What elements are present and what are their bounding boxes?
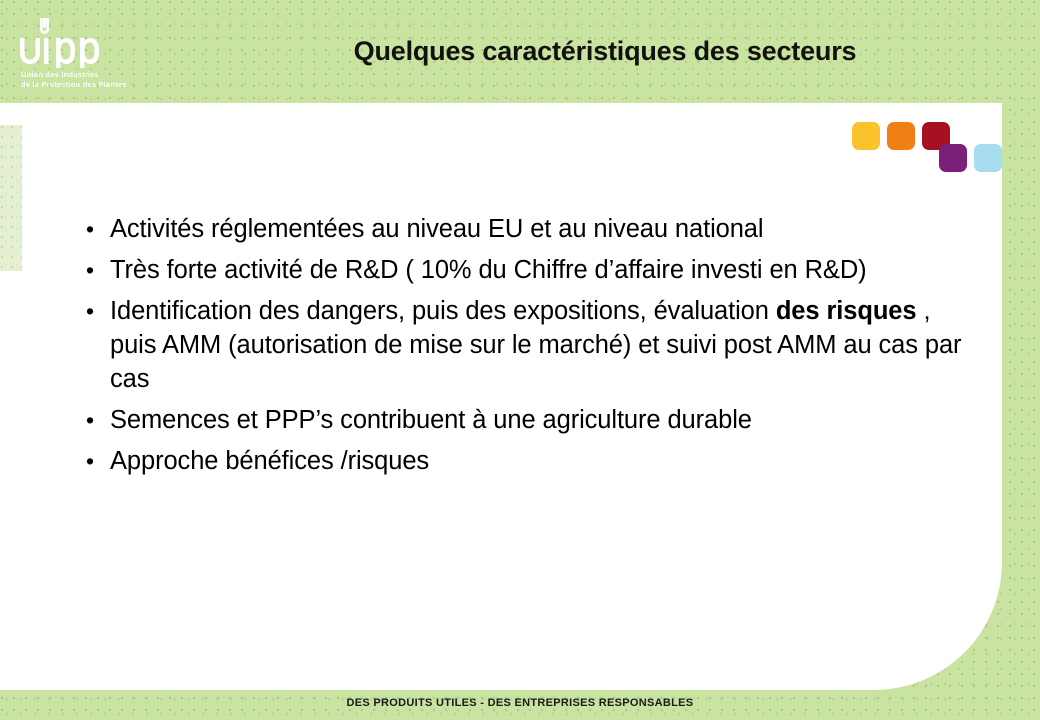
list-item: •Activités réglementées au niveau EU et … [80,212,980,246]
list-item-text: Activités réglementées au niveau EU et a… [110,212,980,246]
chip-purple [939,144,967,172]
list-item: •Identification des dangers, puis des ex… [80,294,980,396]
list-item-text: Approche bénéfices /risques [110,444,980,478]
chip-orange [887,122,915,150]
footer-tagline: DES PRODUITS UTILES - DES ENTREPRISES RE… [347,697,694,709]
bullet-marker-icon: • [80,403,110,437]
list-item-text: Très forte activité de R&D ( 10% du Chif… [110,253,980,287]
list-item: •Très forte activité de R&D ( 10% du Chi… [80,253,980,287]
bullet-marker-icon: • [80,444,110,478]
list-item-text: Identification des dangers, puis des exp… [110,294,980,396]
logo-mark [18,16,110,68]
logo-wordmark-icon [18,16,110,68]
list-item: •Approche bénéfices /risques [80,444,980,478]
chip-lightblue [974,144,1002,172]
bullet-marker-icon: • [80,294,110,328]
list-item-text: Semences et PPP’s contribuent à une agri… [110,403,980,437]
color-chip-group [852,122,1002,174]
bullet-marker-icon: • [80,212,110,246]
page-title: Quelques caractéristiques des secteurs [210,36,1000,67]
uipp-logo: Union des Industries de la Protection de… [18,16,198,96]
presentation-slide: Union des Industries de la Protection de… [0,0,1040,720]
bullet-list: •Activités réglementées au niveau EU et … [80,212,980,485]
left-accent-band [0,125,22,271]
chip-yellow [852,122,880,150]
bullet-marker-icon: • [80,253,110,287]
logo-subtitle: Union des Industries de la Protection de… [21,70,196,90]
list-item: •Semences et PPP’s contribuent à une agr… [80,403,980,437]
footer-band: DES PRODUITS UTILES - DES ENTREPRISES RE… [0,690,1040,720]
